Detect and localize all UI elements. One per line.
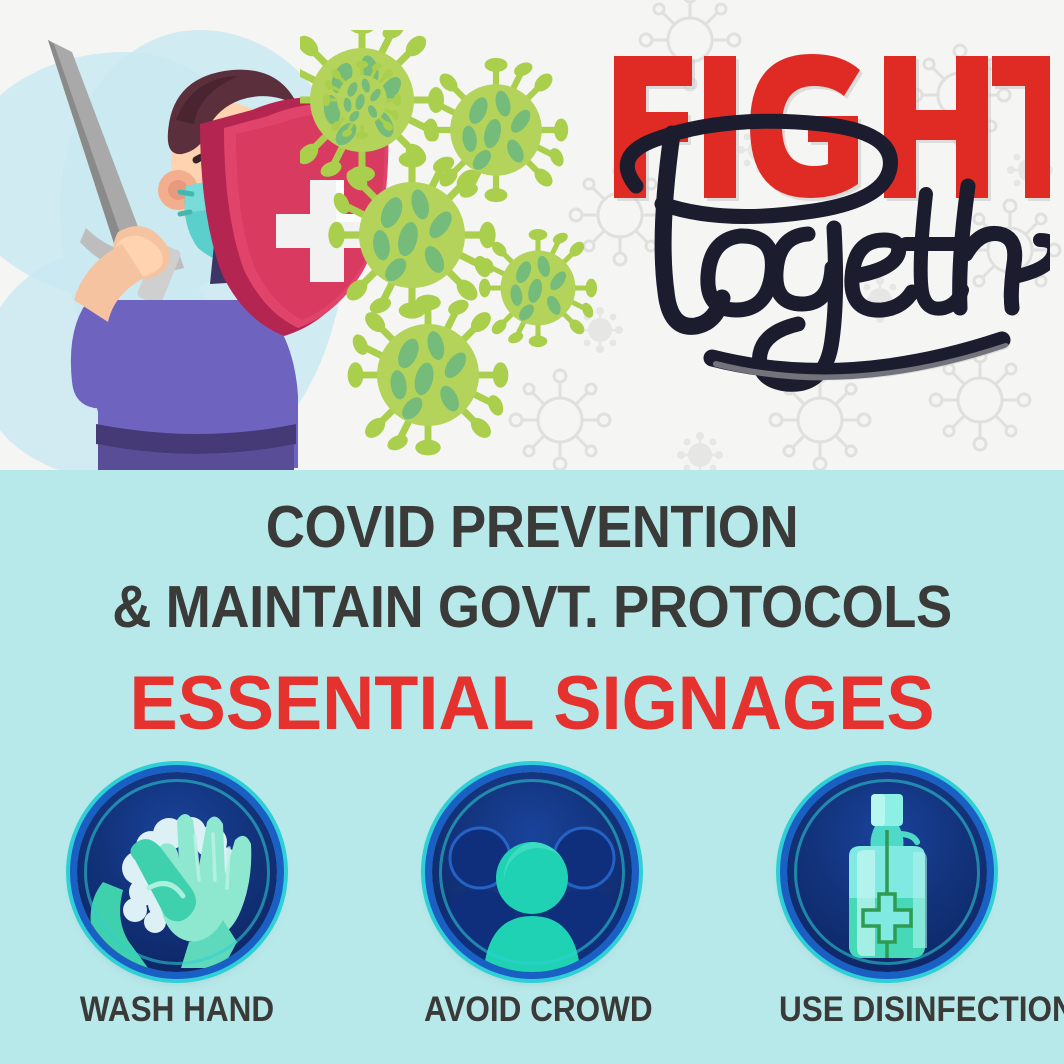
page-subtitle-accent: ESSENTIAL SIGNAGES: [27, 660, 1038, 747]
signage-label: WASH HAND: [69, 990, 285, 1030]
signage-item-use-disinfection[interactable]: USE DISINFECTION: [767, 772, 1007, 1030]
hero-section: [0, 0, 1064, 470]
signage-item-wash-hand[interactable]: WASH HAND: [57, 772, 297, 1030]
washing-hands-icon: [77, 772, 277, 972]
fight-together-logo: [600, 38, 1050, 438]
avoid-crowd-badge[interactable]: [432, 772, 632, 972]
signage-label: USE DISINFECTION: [779, 990, 995, 1030]
avoid-crowd-icon: [432, 772, 632, 972]
coronavirus-particles-icon: [300, 30, 640, 460]
disinfectant-spray-bottle-icon: [787, 772, 987, 972]
page-title-line-2: & MAINTAIN GOVT. PROTOCOLS: [43, 573, 1022, 641]
page-title-line-1: COVID PREVENTION: [43, 493, 1022, 561]
covid-prevention-poster: COVID PREVENTION & MAINTAIN GOVT. PROTOC…: [0, 0, 1064, 1064]
use-disinfection-badge[interactable]: [787, 772, 987, 972]
wash-hand-badge[interactable]: [77, 772, 277, 972]
signage-item-avoid-crowd[interactable]: AVOID CROWD: [412, 772, 652, 1030]
signage-label: AVOID CROWD: [424, 990, 640, 1030]
signage-row: WASH HAND: [0, 772, 1064, 1052]
